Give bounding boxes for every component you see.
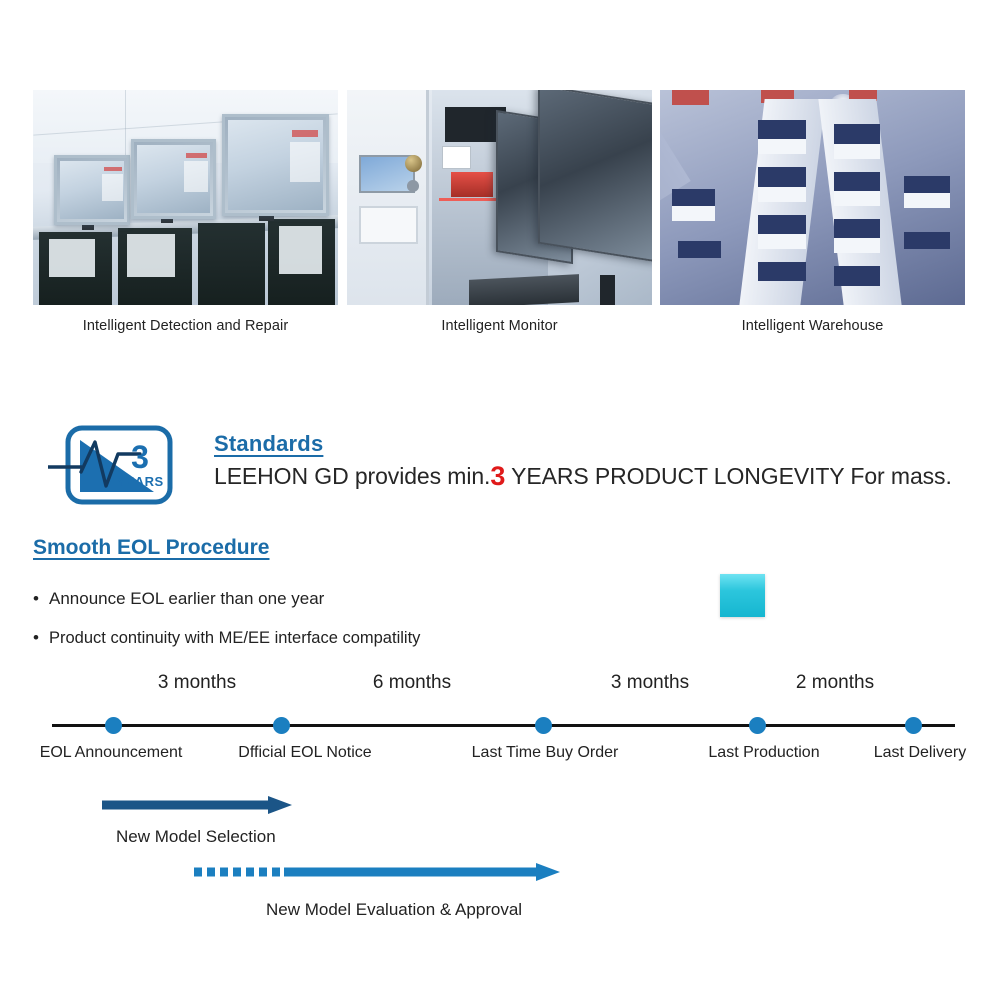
new-model-evaluation-arrow-icon — [192, 862, 560, 882]
timeline-milestone-dot[interactable] — [273, 717, 290, 734]
timeline-duration: 3 months — [158, 672, 236, 694]
standards-title: Standards — [214, 431, 323, 457]
svg-text:3: 3 — [131, 439, 149, 475]
standards-text-after: YEARS PRODUCT LONGEVITY For mass. — [511, 463, 952, 489]
new-model-selection-label: New Model Selection — [116, 827, 276, 847]
photo-caption-intelligent-monitor: Intelligent Monitor — [347, 318, 652, 334]
three-years-longevity-icon: 3 YEARS — [48, 424, 174, 506]
photo-gallery: Intelligent Detection and Repair Int — [0, 90, 1000, 350]
timeline-duration: 3 months — [611, 672, 689, 694]
eol-bullet-list: • Announce EOL earlier than one year • P… — [33, 588, 653, 666]
cyan-square-marker — [720, 574, 765, 617]
timeline-milestone-dot[interactable] — [105, 717, 122, 734]
timeline-milestone-label: Dfficial EOL Notice — [238, 744, 371, 762]
svg-text:YEARS: YEARS — [116, 474, 163, 489]
standards-text-before: LEEHON GD provides min. — [214, 463, 490, 489]
timeline-duration: 2 months — [796, 672, 874, 694]
list-item: • Announce EOL earlier than one year — [33, 588, 653, 610]
smooth-eol-procedure-heading: Smooth EOL Procedure — [33, 536, 270, 560]
bullet-dot-icon: • — [33, 588, 49, 610]
timeline-milestone-label: Last Production — [708, 744, 819, 762]
new-model-evaluation-label: New Model Evaluation & Approval — [266, 900, 522, 920]
timeline-milestone-label: EOL Announcement — [40, 744, 183, 762]
photo-intelligent-monitor — [347, 90, 652, 305]
list-item: • Product continuity with ME/EE interfac… — [33, 627, 653, 649]
timeline-milestone-dot[interactable] — [535, 717, 552, 734]
timeline-milestone-dot[interactable] — [749, 717, 766, 734]
timeline-axis — [52, 724, 955, 727]
photo-card-intelligent-detection-and-repair[interactable] — [33, 90, 338, 305]
photo-intelligent-warehouse — [660, 90, 965, 305]
photo-caption-intelligent-warehouse: Intelligent Warehouse — [660, 318, 965, 334]
new-model-selection-arrow-icon — [102, 795, 292, 815]
photo-intelligent-detection-and-repair — [33, 90, 338, 305]
standards-highlight-number: 3 — [490, 461, 505, 491]
eol-timeline: 3 months 6 months 3 months 2 months EOL … — [0, 672, 1000, 782]
photo-card-intelligent-warehouse[interactable] — [660, 90, 965, 305]
bullet-dot-icon: • — [33, 627, 49, 649]
photo-caption-intelligent-detection-and-repair: Intelligent Detection and Repair — [33, 318, 338, 334]
timeline-milestone-label: Last Delivery — [874, 744, 966, 762]
slide-canvas: Intelligent Detection and Repair Int — [0, 0, 1000, 1000]
timeline-milestone-dot[interactable] — [905, 717, 922, 734]
eol-bullet-text: Announce EOL earlier than one year — [49, 588, 324, 610]
timeline-milestone-label: Last Time Buy Order — [472, 744, 619, 762]
timeline-duration: 6 months — [373, 672, 451, 694]
photo-card-intelligent-monitor[interactable] — [347, 90, 652, 305]
eol-bullet-text: Product continuity with ME/EE interface … — [49, 627, 420, 649]
standards-statement: LEEHON GD provides min.3 YEARS PRODUCT L… — [214, 461, 952, 492]
